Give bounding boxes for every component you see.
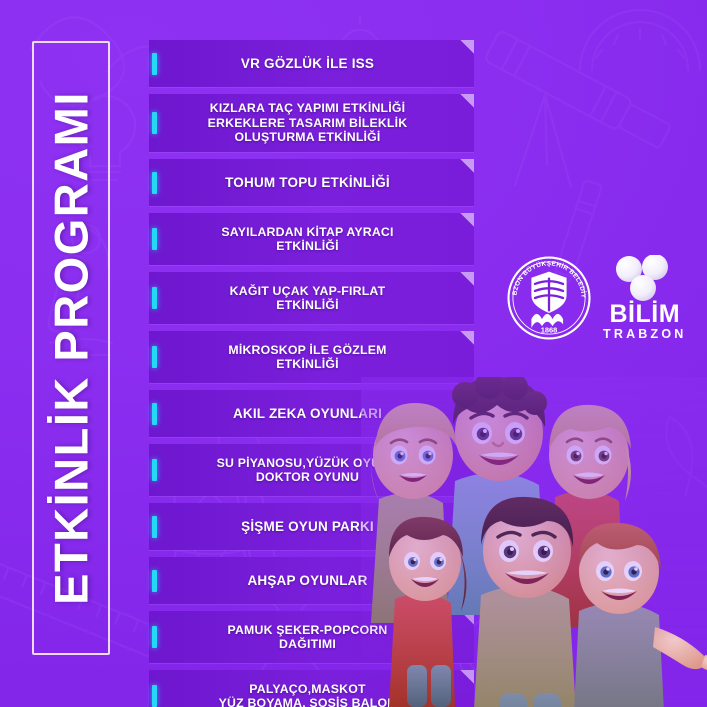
program-row-label: AKIL ZEKA OYUNLARI <box>215 406 408 422</box>
program-row-line: DAĞITIMI <box>279 637 336 651</box>
program-row-label: AHŞAP OYUNLAR <box>229 573 393 589</box>
program-row-line: KIZLARA TAÇ YAPIMI ETKİNLİĞİ <box>210 101 406 115</box>
program-row: ŞİŞME OYUN PARKI <box>149 503 474 550</box>
corner-notch-icon <box>460 390 474 404</box>
program-row-line: SAYILARDAN KİTAP AYRACI <box>221 225 393 239</box>
program-row: AHŞAP OYUNLAR <box>149 557 474 604</box>
molecule-icon <box>608 255 682 301</box>
program-row-line: PALYAÇO,MASKOT <box>249 682 365 696</box>
corner-notch-icon <box>460 670 474 684</box>
program-row-label: MİKROSKOP İLE GÖZLEMETKİNLİĞİ <box>210 343 412 372</box>
row-accent-bar <box>152 287 157 309</box>
row-accent-bar <box>152 570 157 592</box>
corner-notch-icon <box>460 331 474 345</box>
row-accent-bar <box>152 516 157 538</box>
program-row: TOHUM TOPU ETKİNLİĞİ <box>149 159 474 206</box>
program-row-line: ETKİNLİĞİ <box>276 298 339 312</box>
program-list: VR GÖZLÜK İLE ISSKIZLARA TAÇ YAPIMI ETKİ… <box>149 40 474 670</box>
program-row-label: KAĞIT UÇAK YAP-FIRLATETKİNLİĞİ <box>212 284 412 313</box>
page-title: ETKİNLİK PROGRAMI <box>44 91 99 605</box>
program-row-label: VR GÖZLÜK İLE ISS <box>223 56 400 72</box>
program-row: VR GÖZLÜK İLE ISS <box>149 40 474 87</box>
program-row-line: ETKİNLİĞİ <box>276 357 339 371</box>
row-accent-bar <box>152 626 157 648</box>
logo-group: TRABZON BÜYÜKŞEHİR BELEDİYESİ 1868 <box>505 248 695 348</box>
bilim-trabzon-logo: BİLİM TRABZON <box>603 255 687 341</box>
row-accent-bar <box>152 112 157 134</box>
program-row: KIZLARA TAÇ YAPIMI ETKİNLİĞİERKEKLERE TA… <box>149 94 474 152</box>
program-row: KAĞIT UÇAK YAP-FIRLATETKİNLİĞİ <box>149 272 474 324</box>
program-row-line: AKIL ZEKA OYUNLARI <box>233 406 382 421</box>
corner-notch-icon <box>460 444 474 458</box>
program-row-line: YÜZ BOYAMA, SOSİS BALON <box>219 696 397 707</box>
program-row-label: KIZLARA TAÇ YAPIMI ETKİNLİĞİERKEKLERE TA… <box>190 101 434 145</box>
program-row-line: DOKTOR OYUNU <box>256 470 359 484</box>
program-row-label: PALYAÇO,MASKOTYÜZ BOYAMA, SOSİS BALON <box>201 682 423 707</box>
bilim-logo-sub: TRABZON <box>603 328 687 341</box>
program-row-line: ŞİŞME OYUN PARKI <box>241 519 374 534</box>
program-row-line: PAMUK ŞEKER-POPCORN <box>227 623 387 637</box>
corner-notch-icon <box>460 40 474 54</box>
program-row-line: SU PİYANOSU,YÜZÜK OYUNU <box>217 456 399 470</box>
program-row: SU PİYANOSU,YÜZÜK OYUNUDOKTOR OYUNU <box>149 444 474 496</box>
corner-notch-icon <box>460 611 474 625</box>
event-program-poster: ETKİNLİK PROGRAMI VR GÖZLÜK İLE ISSKIZLA… <box>0 0 707 707</box>
row-accent-bar <box>152 53 157 75</box>
program-row: SAYILARDAN KİTAP AYRACIETKİNLİĞİ <box>149 213 474 265</box>
program-row: MİKROSKOP İLE GÖZLEMETKİNLİĞİ <box>149 331 474 383</box>
corner-notch-icon <box>460 557 474 571</box>
row-accent-bar <box>152 459 157 481</box>
row-accent-bar <box>152 403 157 425</box>
poster-title-box: ETKİNLİK PROGRAMI <box>32 41 110 655</box>
program-row-line: KAĞIT UÇAK YAP-FIRLAT <box>230 284 386 298</box>
row-accent-bar <box>152 228 157 250</box>
program-row-label: ŞİŞME OYUN PARKI <box>223 519 400 535</box>
program-row-label: SU PİYANOSU,YÜZÜK OYUNUDOKTOR OYUNU <box>199 456 425 485</box>
row-accent-bar <box>152 172 157 194</box>
program-row-line: AHŞAP OYUNLAR <box>247 573 367 588</box>
trabzon-municipality-seal-icon: TRABZON BÜYÜKŞEHİR BELEDİYESİ 1868 <box>505 254 593 342</box>
bilim-logo-name: BİLİM <box>609 302 680 327</box>
program-row-line: VR GÖZLÜK İLE ISS <box>241 56 374 71</box>
program-row: PALYAÇO,MASKOTYÜZ BOYAMA, SOSİS BALON <box>149 670 474 707</box>
program-row: AKIL ZEKA OYUNLARI <box>149 390 474 437</box>
program-row-line: MİKROSKOP İLE GÖZLEM <box>228 343 386 357</box>
program-row-line: ERKEKLERE TASARIM BİLEKLİK <box>208 116 408 130</box>
corner-notch-icon <box>460 94 474 108</box>
program-row-line: OLUŞTURMA ETKİNLİĞİ <box>234 130 380 144</box>
program-row-label: TOHUM TOPU ETKİNLİĞİ <box>207 175 416 191</box>
row-accent-bar <box>152 685 157 707</box>
svg-text:1868: 1868 <box>541 325 558 334</box>
corner-notch-icon <box>460 503 474 517</box>
program-row-line: ETKİNLİĞİ <box>276 239 339 253</box>
program-row-line: TOHUM TOPU ETKİNLİĞİ <box>225 175 390 190</box>
corner-notch-icon <box>460 213 474 227</box>
corner-notch-icon <box>460 272 474 286</box>
program-row-label: PAMUK ŞEKER-POPCORNDAĞITIMI <box>209 623 413 652</box>
row-accent-bar <box>152 346 157 368</box>
corner-notch-icon <box>460 159 474 173</box>
program-row-label: SAYILARDAN KİTAP AYRACIETKİNLİĞİ <box>203 225 419 254</box>
program-row: PAMUK ŞEKER-POPCORNDAĞITIMI <box>149 611 474 663</box>
